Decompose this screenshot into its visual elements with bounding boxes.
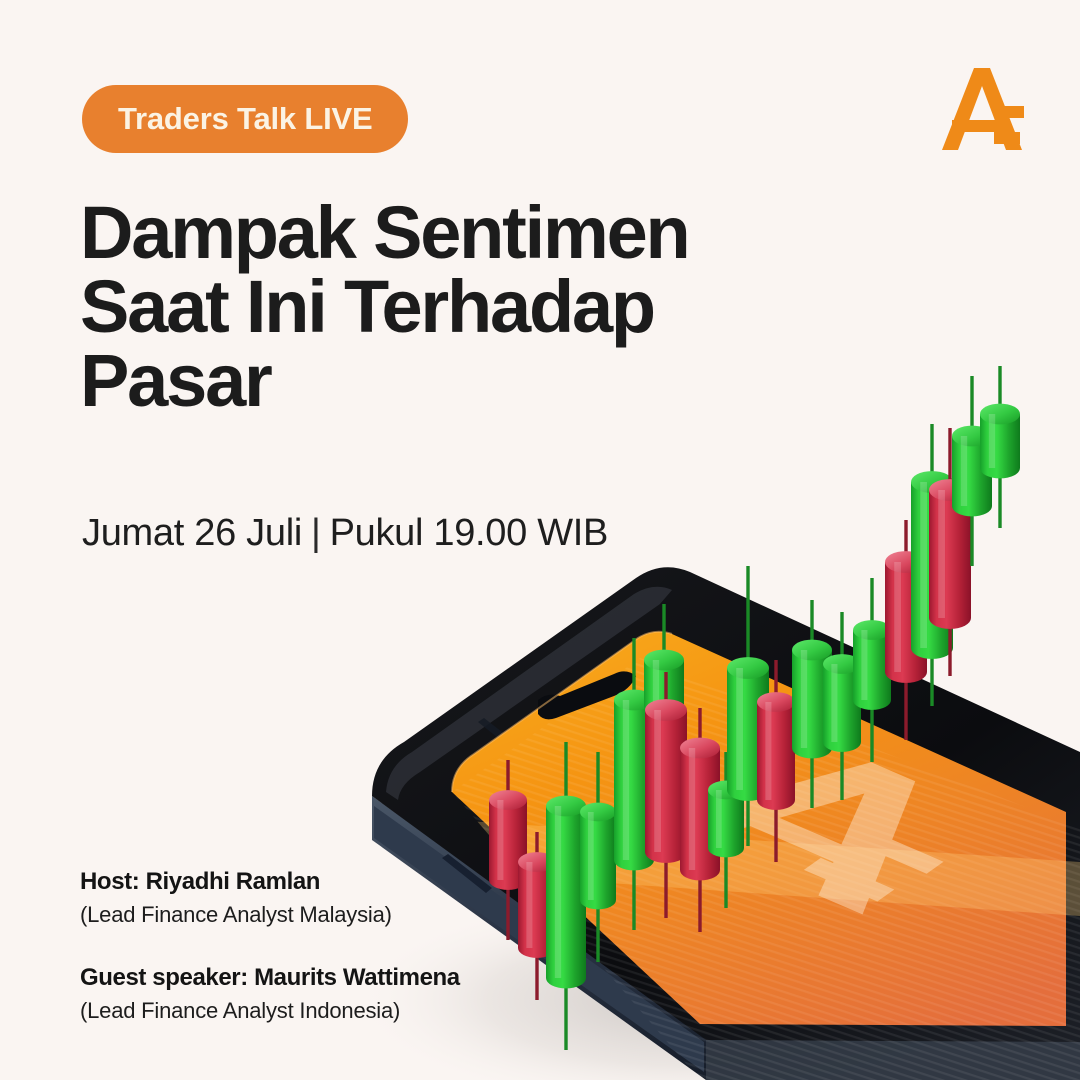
headline-line-2: Saat Ini Terhadap (80, 270, 840, 344)
event-time: Pukul 19.00 WIB (330, 512, 609, 554)
host-name: Host: Riyadhi Ramlan (80, 866, 460, 897)
credit-host: Host: Riyadhi Ramlan (Lead Finance Analy… (80, 866, 460, 930)
page-title: Dampak Sentimen Saat Ini Terhadap Pasar (80, 196, 840, 418)
credits-block: Host: Riyadhi Ramlan (Lead Finance Analy… (80, 866, 460, 1026)
dateline-separator: | (302, 512, 330, 554)
guest-name: Guest speaker: Maurits Wattimena (80, 962, 460, 993)
live-badge-label: Traders Talk LIVE (118, 101, 372, 137)
guest-role: (Lead Finance Analyst Indonesia) (80, 996, 460, 1026)
live-badge: Traders Talk LIVE (82, 85, 408, 153)
event-date: Jumat 26 Juli (82, 512, 302, 554)
ascendex-a-logo-icon (936, 62, 1028, 160)
headline-line-1: Dampak Sentimen (80, 196, 840, 270)
credit-guest: Guest speaker: Maurits Wattimena (Lead F… (80, 962, 460, 1026)
poster-canvas: Traders Talk LIVE Dampak Sentimen Saat I… (0, 0, 1080, 1080)
headline-line-3: Pasar (80, 344, 840, 418)
event-dateline: Jumat 26 Juli|Pukul 19.00 WIB (82, 512, 608, 555)
host-role: (Lead Finance Analyst Malaysia) (80, 900, 460, 930)
